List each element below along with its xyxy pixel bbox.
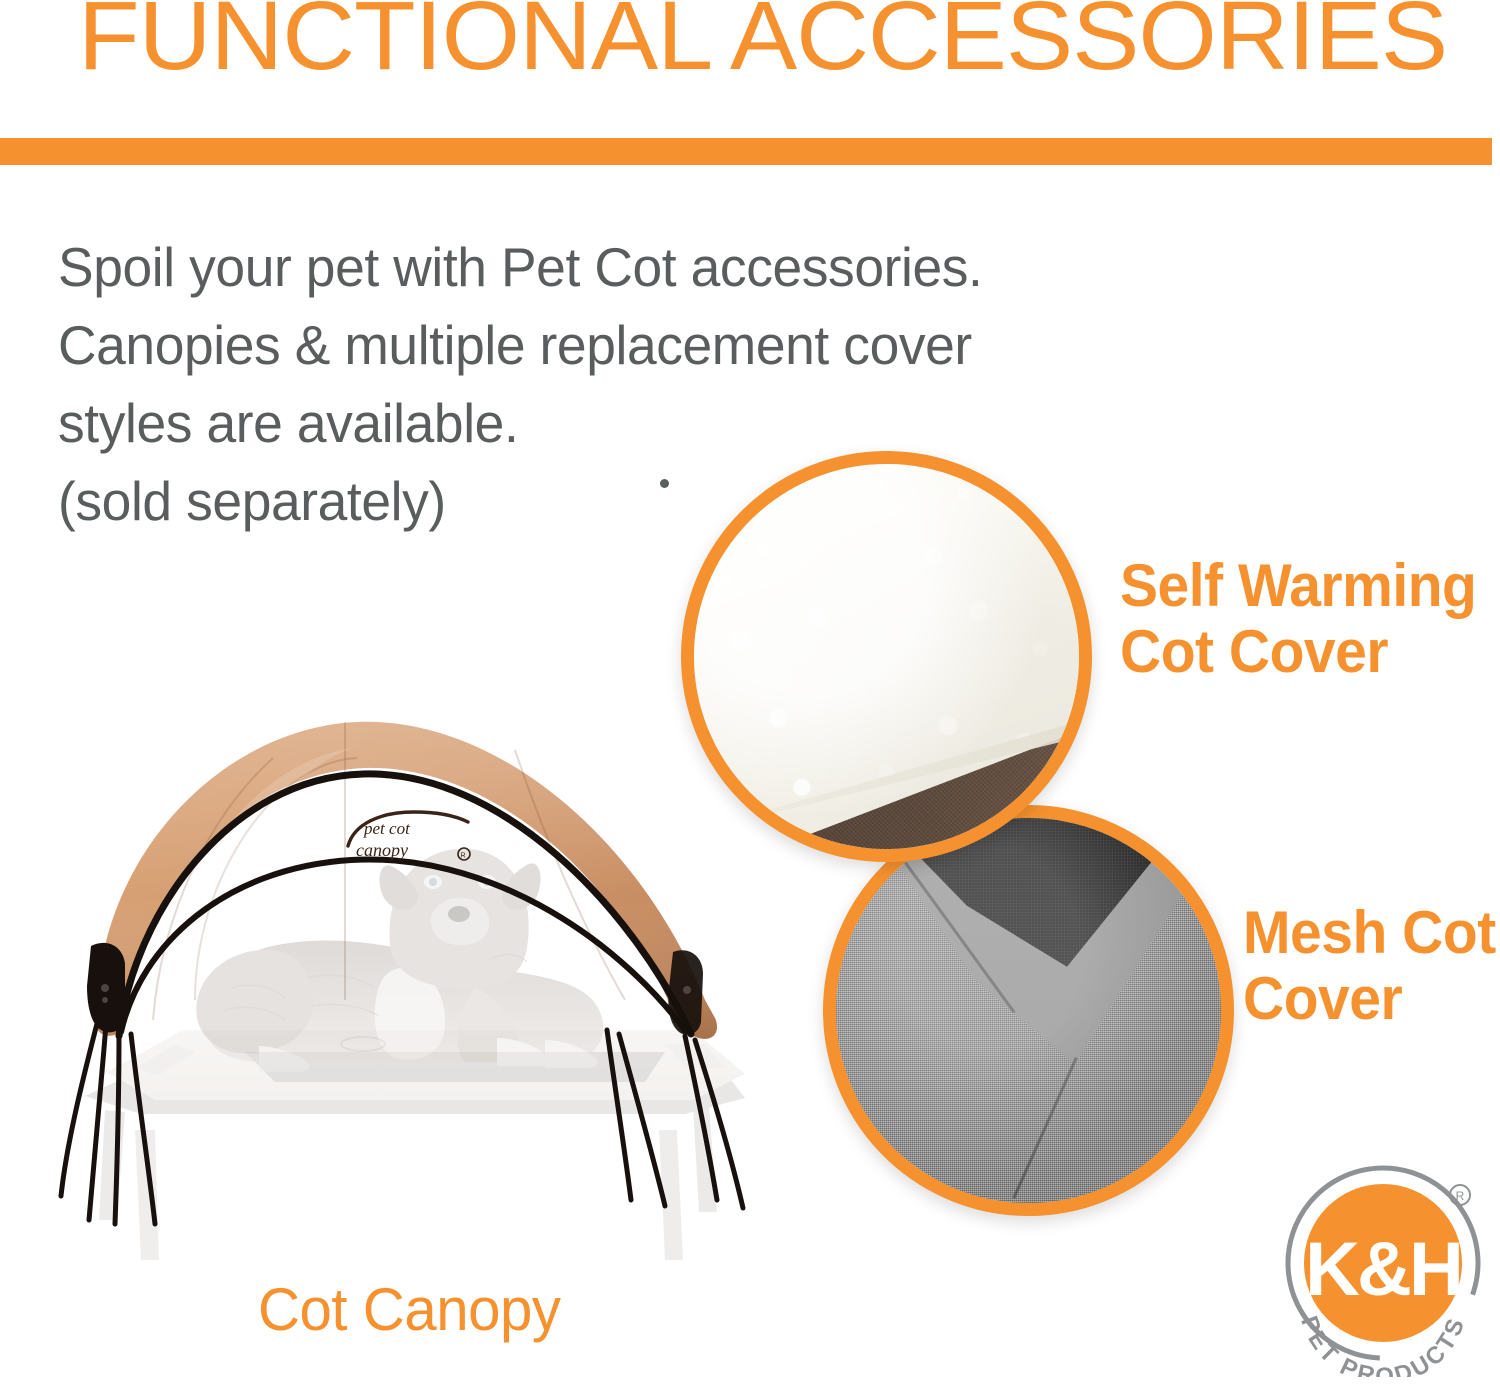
mesh-cover-photo-circle (823, 805, 1234, 1216)
self-warming-label-line-2: Cot Cover (1120, 619, 1476, 685)
intro-paragraph: Spoil your pet with Pet Cot accessories.… (58, 228, 737, 540)
elevated-cot-ghost (85, 1030, 745, 1260)
self-warming-cover-photo-circle (681, 451, 1092, 862)
intro-line-3: styles are available. (58, 384, 737, 462)
intro-line-4: (sold separately) (58, 462, 737, 540)
intro-trailing-dot (660, 479, 669, 488)
intro-line-2: Canopies & multiple replacement cover (58, 306, 737, 384)
cot-canopy-product-image (45, 700, 775, 1280)
mesh-photo (836, 818, 1221, 1203)
mesh-cover-label: Mesh Cot Cover (1243, 900, 1496, 1032)
header-divider-rule (0, 138, 1492, 165)
logo-kh-text: K&H (1305, 1227, 1461, 1312)
mesh-highlight (836, 818, 1221, 1203)
mesh-label-line-2: Cover (1243, 966, 1496, 1032)
self-warming-label-line-1: Self Warming (1120, 553, 1476, 619)
intro-line-1: Spoil your pet with Pet Cot accessories. (58, 228, 737, 306)
kh-pet-products-logo: K&H R PET PRODUCTS (1276, 1163, 1490, 1377)
self-warming-photo (694, 464, 1079, 849)
self-warming-cover-label: Self Warming Cot Cover (1120, 553, 1476, 685)
infographic-canvas: FUNCTIONAL ACCESSORIES Spoil your pet wi… (0, 0, 1500, 1387)
mesh-label-line-1: Mesh Cot (1243, 900, 1496, 966)
cot-canopy-label: Cot Canopy (258, 1278, 561, 1342)
page-title: FUNCTIONAL ACCESSORIES (78, 0, 1500, 88)
logo-registered-r: R (1456, 1189, 1465, 1203)
